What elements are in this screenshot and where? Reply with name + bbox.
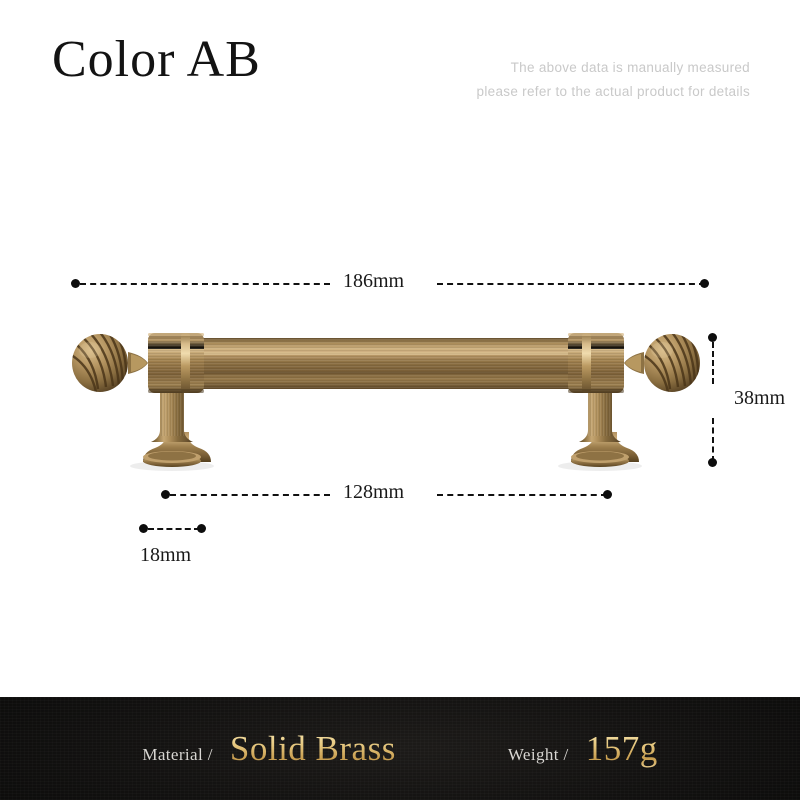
spec-footer-banner: Material / Solid Brass Weight / 157g xyxy=(0,697,800,800)
dim-line-left xyxy=(80,283,330,285)
dim-line-right xyxy=(437,283,705,285)
dimension-center-to-center: 128mm xyxy=(0,494,800,496)
left-mounting-post xyxy=(143,386,211,467)
dim-endpoint-dot xyxy=(139,524,148,533)
dimension-overall-length: 186mm xyxy=(0,283,800,285)
left-collar xyxy=(148,333,204,393)
right-collar xyxy=(568,333,624,393)
dim-endpoint-dot xyxy=(161,490,170,499)
right-mounting-post xyxy=(571,386,639,467)
product-image-brass-handle xyxy=(0,0,800,800)
dim-endpoint-dot xyxy=(708,333,717,342)
material-spec: Material / Solid Brass xyxy=(142,729,396,769)
weight-label: Weight / xyxy=(508,745,569,765)
weight-value: 157g xyxy=(586,729,658,769)
dim-endpoint-dot xyxy=(603,490,612,499)
right-finial xyxy=(624,331,700,392)
dim-endpoint-dot xyxy=(708,458,717,467)
dimension-label-18mm: 18mm xyxy=(133,544,198,567)
dim-endpoint-dot xyxy=(71,279,80,288)
dimension-label-128mm: 128mm xyxy=(336,481,411,504)
material-label: Material / xyxy=(142,745,213,765)
material-value: Solid Brass xyxy=(230,729,396,769)
left-finial xyxy=(66,331,148,392)
dim-endpoint-dot xyxy=(700,279,709,288)
handle-bar xyxy=(190,338,582,389)
product-spec-sheet: Color AB The above data is manually meas… xyxy=(0,0,800,800)
dim-line-right xyxy=(437,494,607,496)
dim-endpoint-dot xyxy=(197,524,206,533)
dimension-label-186mm: 186mm xyxy=(336,270,411,293)
weight-spec: Weight / 157g xyxy=(508,729,658,769)
dimension-base-diameter: 18mm xyxy=(0,528,300,530)
dim-line xyxy=(148,528,200,530)
dim-line-vertical-top xyxy=(712,342,714,384)
dim-line-vertical-bottom xyxy=(712,418,714,462)
dimension-label-38mm: 38mm xyxy=(727,387,792,410)
dim-line-left xyxy=(170,494,330,496)
